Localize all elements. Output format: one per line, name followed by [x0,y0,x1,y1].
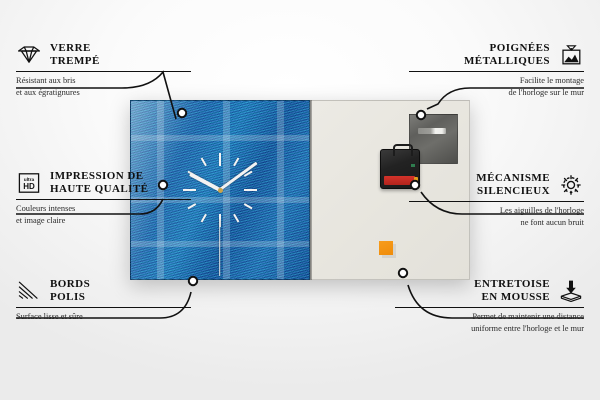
ultra-hd-icon: ultra HD [16,171,42,195]
callout-subtitle: Facilite le montage de l'horloge sur le … [409,75,584,98]
callout-title: POIGNÉES MÉTALLIQUES [464,42,550,68]
hanging-loop [393,144,413,156]
callout-header: ultra HD IMPRESSION DE HAUTE QUALITÉ [16,170,191,196]
callout-subtitle: Résistant aux bris et aux égratignures [16,75,191,98]
foam-spacer-icon [558,279,584,303]
callout-title: ENTRETOISE EN MOUSSE [474,278,550,304]
foam-spacer [379,241,393,255]
clock-center-pin [218,188,223,193]
callout-header: MÉCANISME SILENCIEUX [409,172,584,198]
callout-title: VERRE TREMPÉ [50,42,100,68]
callout-subtitle: Permet de maintenir une distance uniform… [395,311,584,334]
callout-rule [409,71,584,72]
gear-icon [558,173,584,197]
callout-subtitle: Surface lisse et sûre [16,311,191,322]
callout-bords-polis: BORDS POLIS Surface lisse et sûre [16,278,191,323]
callout-rule [409,201,584,202]
callout-rule [395,307,584,308]
callout-header: BORDS POLIS [16,278,191,304]
callout-header: POIGNÉES MÉTALLIQUES [409,42,584,68]
callout-rule [16,307,191,308]
callout-entretoise-en-mousse: ENTRETOISE EN MOUSSE Permet de maintenir… [395,278,584,334]
callout-title: MÉCANISME SILENCIEUX [476,172,550,198]
svg-text:HD: HD [23,182,35,191]
wall-mount-frame-icon [558,43,584,67]
callout-subtitle: Couleurs intenses et image claire [16,203,191,226]
callout-impression-haute-qualite: ultra HD IMPRESSION DE HAUTE QUALITÉ Cou… [16,170,191,226]
movement-indicator [411,164,415,167]
callout-header: VERRE TREMPÉ [16,42,191,68]
hanger-slot [418,128,446,134]
callout-mecanisme-silencieux: MÉCANISME SILENCIEUX Les aiguilles de l'… [409,172,584,228]
callout-title: BORDS POLIS [50,278,90,304]
panel-seam [310,100,312,280]
infographic-stage: VERRE TREMPÉ Résistant aux bris et aux é… [0,0,600,400]
callout-rule [16,199,191,200]
polished-edges-icon [16,279,42,303]
callout-header: ENTRETOISE EN MOUSSE [395,278,584,304]
callout-subtitle: Les aiguilles de l'horloge ne font aucun… [409,205,584,228]
callout-rule [16,71,191,72]
diamond-icon [16,43,42,67]
callout-poignees-metalliques: POIGNÉES MÉTALLIQUES Facilite le montage… [409,42,584,98]
callout-title: IMPRESSION DE HAUTE QUALITÉ [50,170,148,196]
callout-verre-trempe: VERRE TREMPÉ Résistant aux bris et aux é… [16,42,191,98]
